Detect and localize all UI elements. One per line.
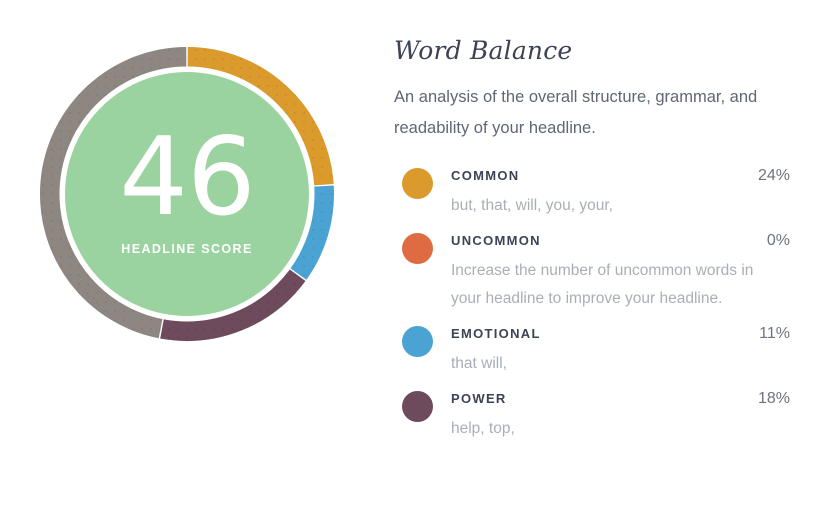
legend-label: UNCOMMON [451, 231, 541, 251]
legend-description: help, top, [451, 415, 781, 443]
legend-percent: 0% [751, 231, 790, 251]
legend-label: COMMON [451, 166, 519, 186]
legend-color-dot [402, 233, 433, 264]
legend-percent: 24% [742, 166, 790, 186]
legend-row-header: UNCOMMON 0% [451, 231, 790, 251]
word-balance-widget: 46 HEADLINE SCORE Word Balance An analys… [0, 0, 832, 509]
legend-label: POWER [451, 389, 507, 409]
legend-percent: 11% [743, 324, 790, 344]
headline-score-gauge-pane: 46 HEADLINE SCORE [0, 0, 380, 509]
legend-description: that will, [451, 350, 781, 378]
panel-subtitle: An analysis of the overall structure, gr… [394, 82, 774, 144]
list-item[interactable]: UNCOMMON 0% Increase the number of uncom… [394, 231, 790, 313]
legend-label: EMOTIONAL [451, 324, 541, 344]
score-disc: 46 HEADLINE SCORE [65, 72, 309, 316]
headline-score-caption: HEADLINE SCORE [121, 242, 252, 256]
legend-percent: 18% [742, 389, 790, 409]
list-item[interactable]: POWER 18% help, top, [394, 389, 790, 443]
page-title: Word Balance [394, 36, 790, 65]
headline-score-value: 46 [119, 126, 254, 230]
donut-chart: 46 HEADLINE SCORE [32, 39, 342, 349]
word-balance-legend: COMMON 24% but, that, will, you, your, U… [394, 166, 790, 443]
word-balance-analysis-pane: Word Balance An analysis of the overall … [380, 0, 832, 509]
list-item[interactable]: EMOTIONAL 11% that will, [394, 324, 790, 378]
legend-row-header: COMMON 24% [451, 166, 790, 186]
legend-color-dot [402, 168, 433, 199]
legend-color-dot [402, 391, 433, 422]
legend-description: Increase the number of uncommon words in… [451, 257, 781, 313]
legend-description: but, that, will, you, your, [451, 192, 781, 220]
legend-color-dot [402, 326, 433, 357]
list-item[interactable]: COMMON 24% but, that, will, you, your, [394, 166, 790, 220]
legend-row-header: EMOTIONAL 11% [451, 324, 790, 344]
legend-row-header: POWER 18% [451, 389, 790, 409]
